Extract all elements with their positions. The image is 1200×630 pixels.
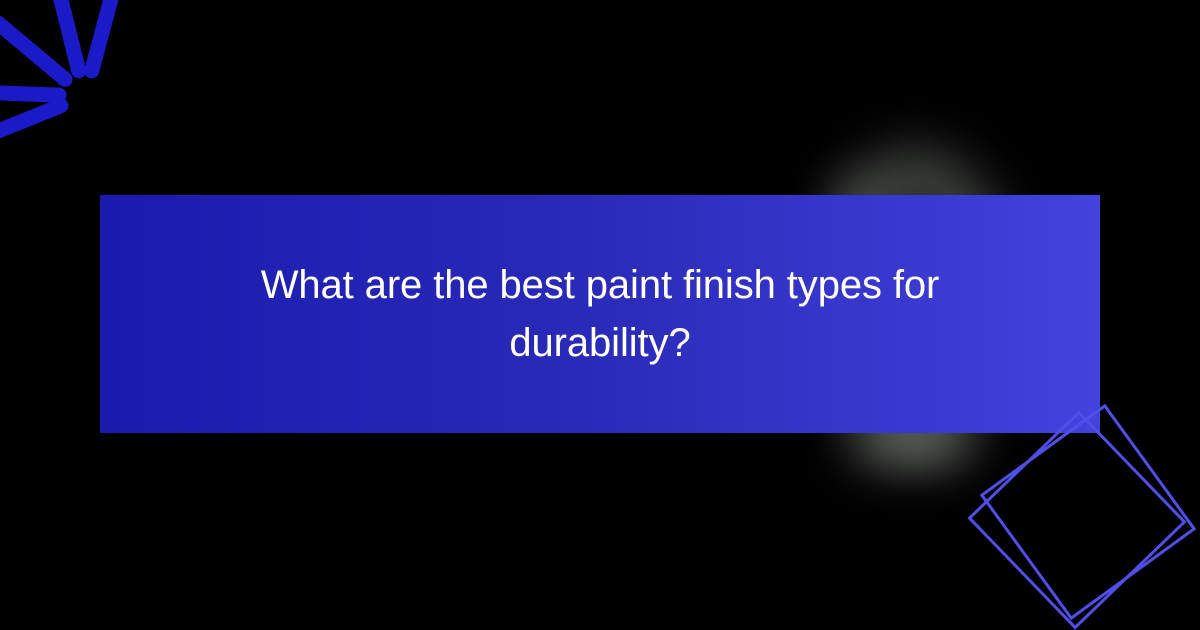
starburst-ray-5 xyxy=(0,106,61,140)
rotated-squares-icon xyxy=(960,400,1200,630)
starburst-icon xyxy=(0,0,240,200)
rotated-square-1 xyxy=(970,413,1185,628)
starburst-ray-4 xyxy=(0,92,59,95)
og-card: What are the best paint finish types for… xyxy=(0,0,1200,630)
starburst-ray-3 xyxy=(0,23,65,80)
starburst-ray-1 xyxy=(56,0,78,71)
title-banner: What are the best paint finish types for… xyxy=(100,195,1100,433)
page-title: What are the best paint finish types for… xyxy=(250,256,950,372)
starburst-ray-2 xyxy=(92,0,117,71)
rotated-square-2 xyxy=(982,406,1194,618)
